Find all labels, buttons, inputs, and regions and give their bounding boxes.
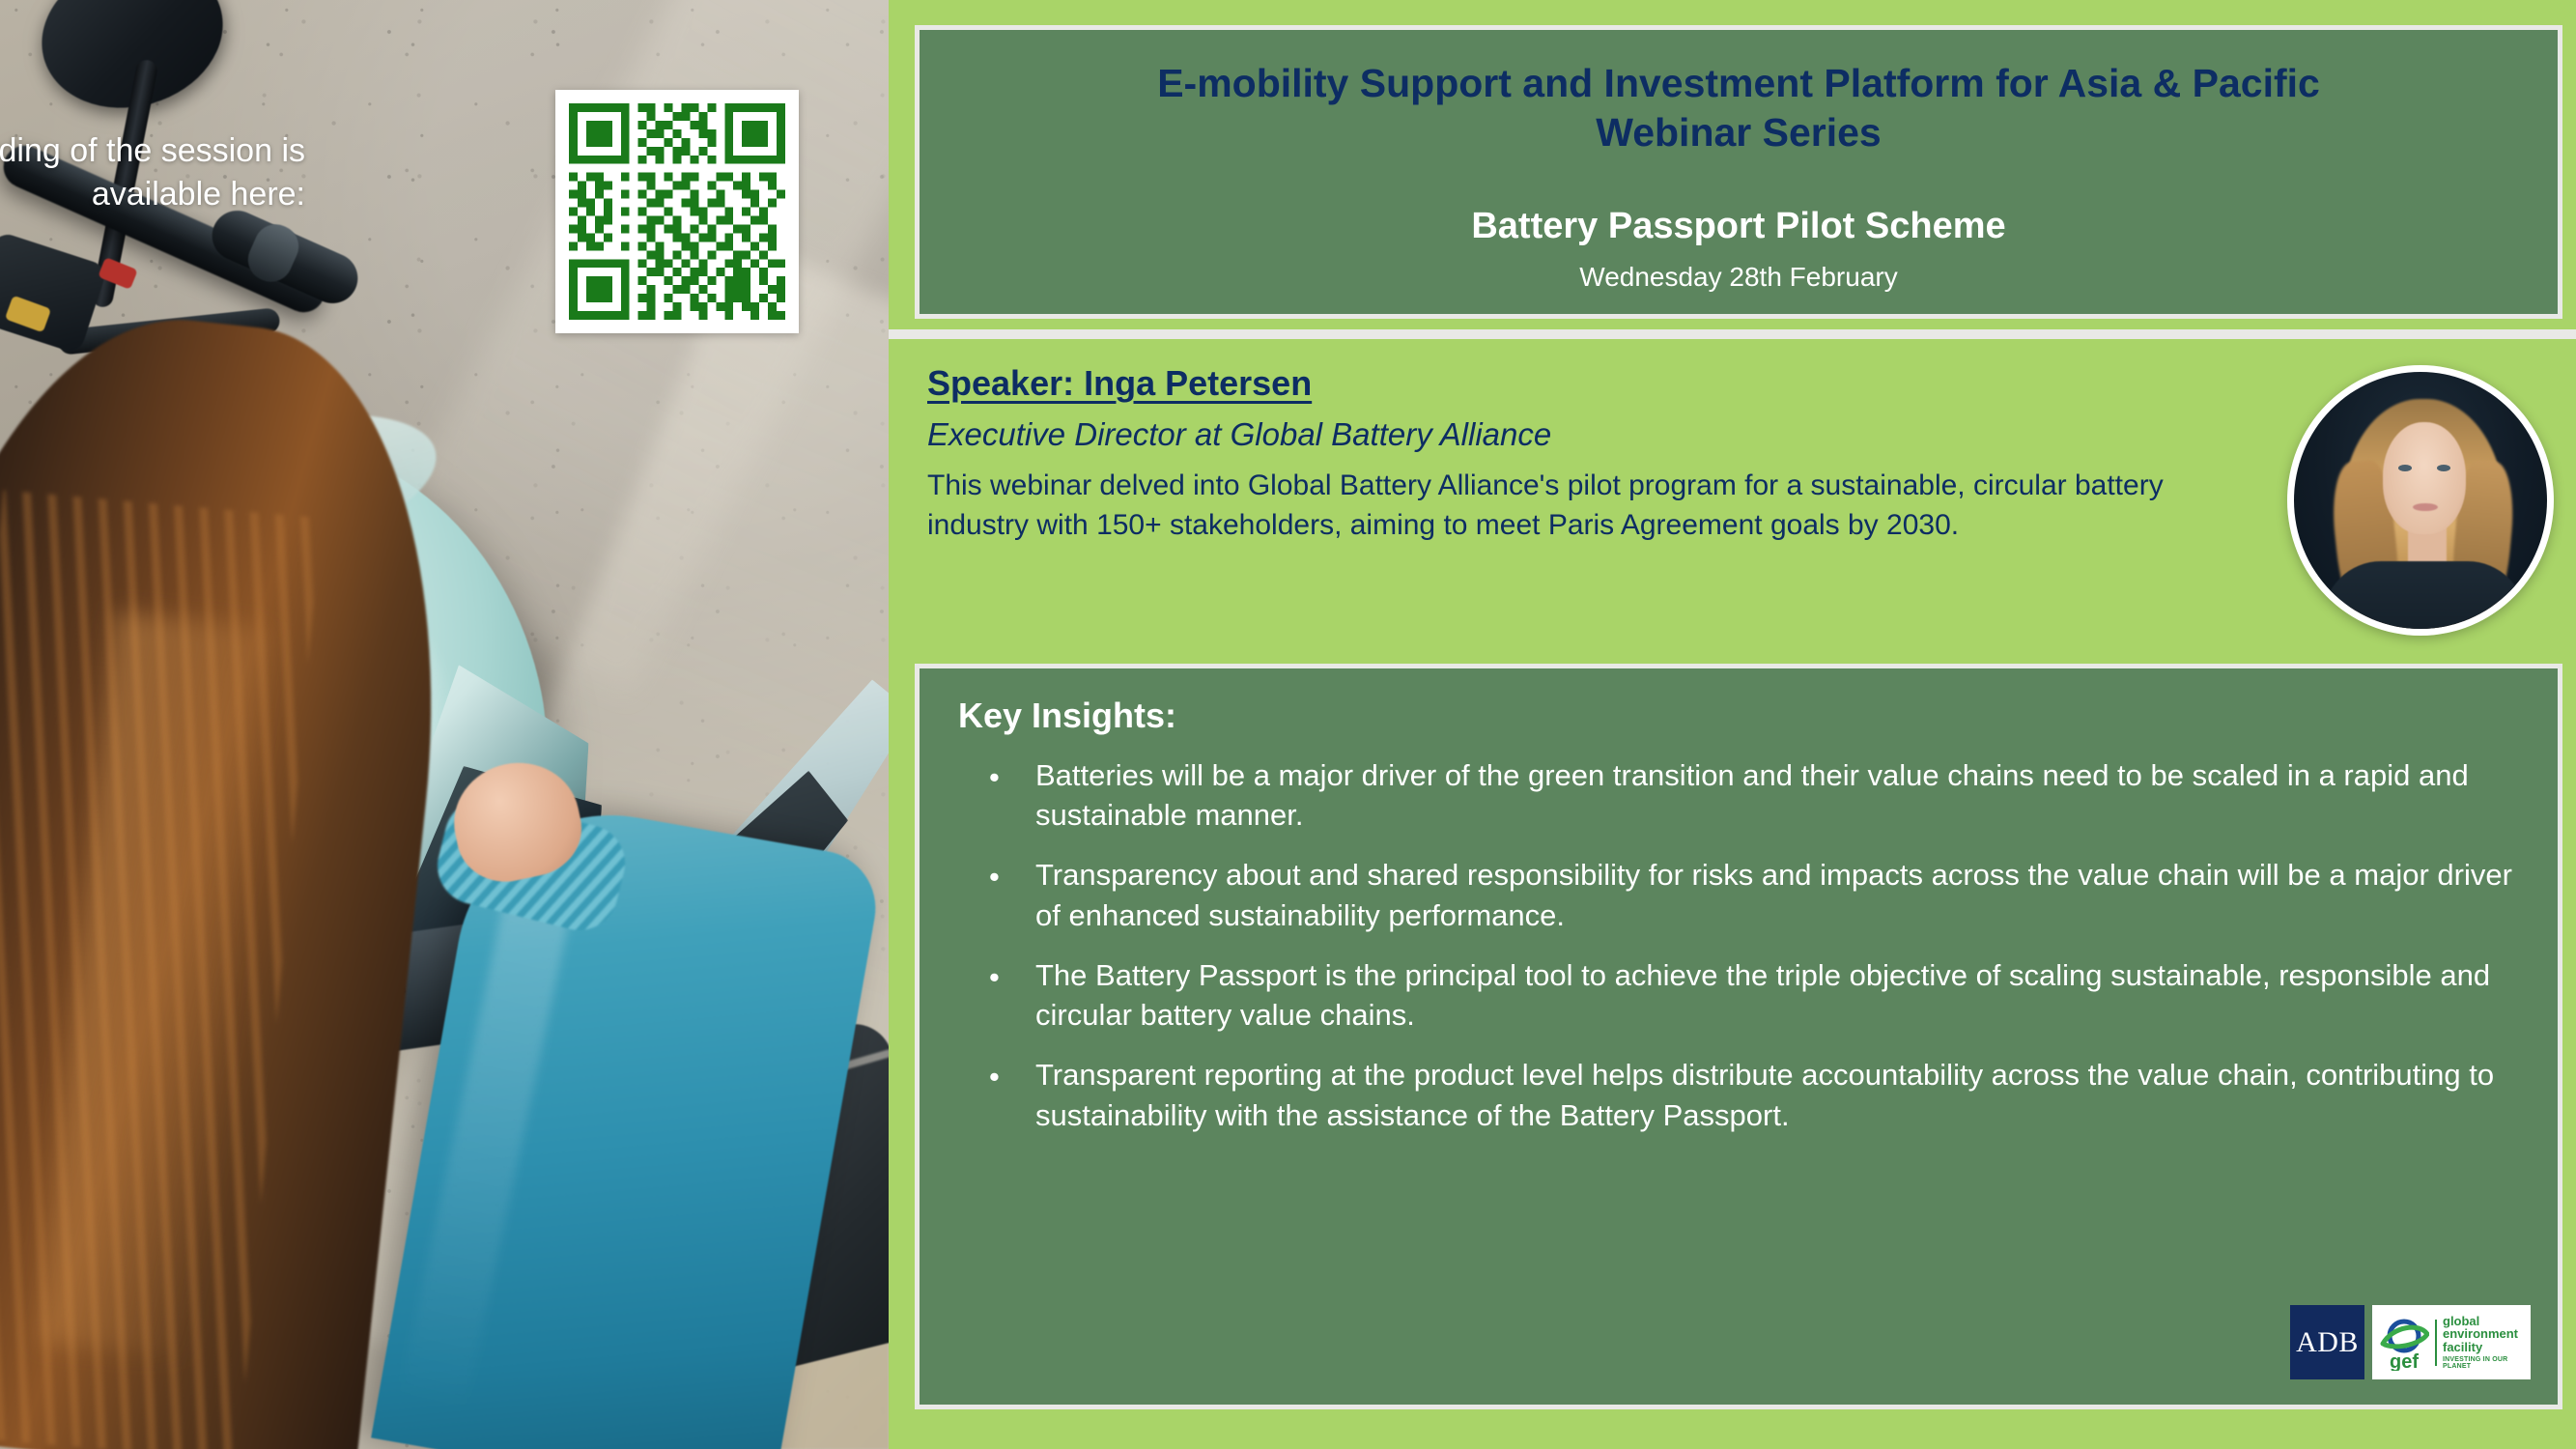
adb-logo-text: ADB <box>2296 1326 2359 1359</box>
list-item-text: Batteries will be a major driver of the … <box>1035 758 2469 832</box>
list-item: • Batteries will be a major driver of th… <box>954 755 2529 835</box>
logo-strip: ADB gef global environment <box>2290 1305 2531 1379</box>
header-panel: E-mobility Support and Investment Platfo… <box>915 25 2562 319</box>
bullet-icon: • <box>989 1057 1000 1096</box>
bullet-icon: • <box>989 957 1000 997</box>
speaker-role: Executive Director at Global Battery All… <box>927 416 1551 453</box>
list-item-text: The Battery Passport is the principal to… <box>1035 958 2490 1032</box>
title-line-1: E-mobility Support and Investment Platfo… <box>958 59 2519 108</box>
qr-code-icon <box>569 103 785 320</box>
key-insights-title: Key Insights: <box>958 696 1176 736</box>
avatar-mouth <box>2413 503 2438 511</box>
title-line-2: Webinar Series <box>958 108 2519 157</box>
gef-tagline: INVESTING IN OUR PLANET <box>2443 1356 2524 1370</box>
gef-word-facility: facility <box>2443 1341 2524 1353</box>
webinar-summary-slide: Recording of the session is available he… <box>0 0 2576 1449</box>
gef-logo: gef global environment facility INVESTIN… <box>2372 1305 2531 1379</box>
photo-caption-line2: available here: <box>0 173 305 216</box>
gef-divider <box>2435 1320 2437 1366</box>
list-item-text: Transparency about and shared responsibi… <box>1035 858 2512 931</box>
webinar-series-title: E-mobility Support and Investment Platfo… <box>958 59 2519 157</box>
speaker-name: Speaker: Inga Petersen <box>927 363 1312 404</box>
bullet-icon: • <box>989 857 1000 896</box>
gef-word-global: global <box>2443 1315 2524 1327</box>
photo-caption-line1: Recording of the session is <box>0 129 305 173</box>
avatar-face <box>2383 422 2466 534</box>
speaker-avatar <box>2287 365 2554 636</box>
photo-caption: Recording of the session is available he… <box>0 129 305 216</box>
list-item-text: Transparent reporting at the product lev… <box>1035 1058 2494 1131</box>
avatar-eye-left <box>2398 465 2412 471</box>
session-date: Wednesday 28th February <box>958 262 2519 293</box>
key-insights-panel: Key Insights: • Batteries will be a majo… <box>915 664 2562 1409</box>
speaker-panel: Speaker: Inga Petersen Executive Directo… <box>889 329 2576 644</box>
key-insights-list: • Batteries will be a major driver of th… <box>954 755 2529 1155</box>
gef-globe-icon: gef <box>2379 1315 2429 1371</box>
bullet-icon: • <box>989 757 1000 797</box>
gef-word-environment: environment <box>2443 1327 2524 1340</box>
list-item: • The Battery Passport is the principal … <box>954 955 2529 1035</box>
list-item: • Transparent reporting at the product l… <box>954 1055 2529 1134</box>
avatar-eye-right <box>2437 465 2450 471</box>
session-title: Battery Passport Pilot Scheme <box>958 206 2519 247</box>
hero-photo: Recording of the session is available he… <box>0 0 889 1449</box>
svg-text:gef: gef <box>2390 1351 2419 1371</box>
avatar-torso <box>2323 561 2526 636</box>
speaker-bio: This webinar delved into Global Battery … <box>927 467 2270 545</box>
list-item: • Transparency about and shared responsi… <box>954 855 2529 934</box>
content-column: E-mobility Support and Investment Platfo… <box>889 0 2576 1449</box>
adb-logo: ADB <box>2290 1305 2364 1379</box>
qr-code[interactable] <box>555 90 799 333</box>
gef-wordmark: global environment facility INVESTING IN… <box>2443 1315 2524 1370</box>
